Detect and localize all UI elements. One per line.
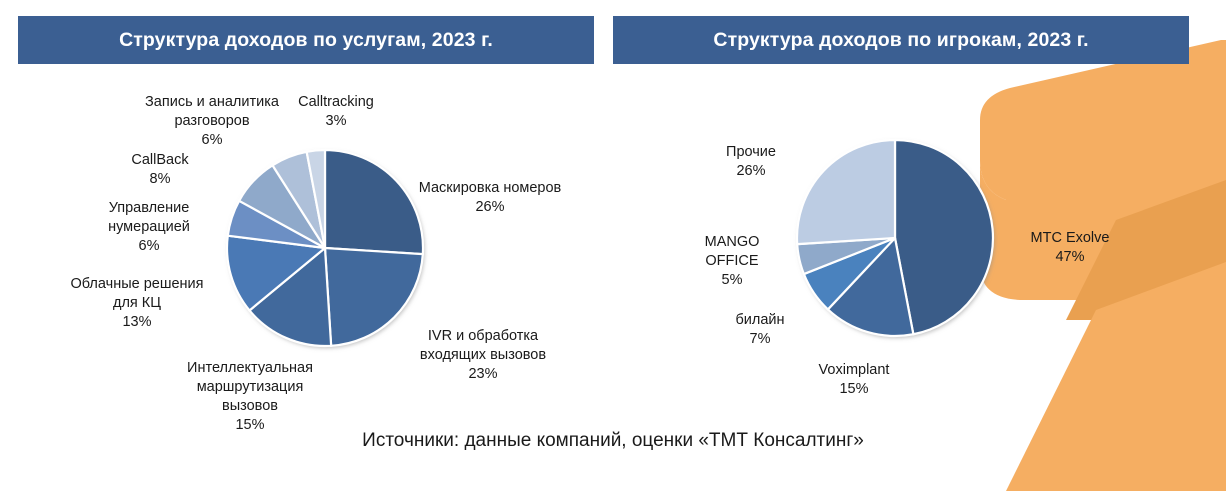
pie-chart-revenue-by-player: Прочие 26% MANGO OFFICE 5% билайн 7% Vox… — [613, 64, 1226, 424]
label-numbering-management-name: Управление нумерацией — [108, 200, 190, 235]
label-ivr-inbound-value: 23% — [388, 365, 578, 384]
label-mtc-exolve-value: 47% — [995, 248, 1145, 267]
label-calltracking-name: Calltracking — [298, 94, 374, 110]
panel-title-right: Структура доходов по игрокам, 2023 г. — [613, 16, 1189, 64]
label-other-players-name: Прочие — [726, 144, 776, 160]
label-numbering-management-value: 6% — [74, 237, 224, 256]
panel-title-right-text: Структура доходов по игрокам, 2023 г. — [713, 29, 1088, 52]
label-voximplant: Voximplant 15% — [779, 342, 929, 418]
panel-title-left: Структура доходов по услугам, 2023 г. — [18, 16, 594, 64]
label-mango-office-name: MANGO OFFICE — [705, 234, 760, 269]
label-number-masking-name: Маскировка номеров — [419, 180, 562, 196]
pie-chart-revenue-by-service: Calltracking 3% Запись и аналитика разго… — [0, 64, 613, 424]
source-note: Источники: данные компаний, оценки «ТМТ … — [0, 430, 1226, 452]
panel-title-left-text: Структура доходов по услугам, 2023 г. — [119, 29, 493, 52]
label-other-players-value: 26% — [691, 162, 811, 181]
label-other-players: Прочие 26% — [691, 124, 811, 200]
label-recording-analytics-name: Запись и аналитика разговоров — [145, 94, 279, 129]
slide-canvas: Структура доходов по услугам, 2023 г. Ст… — [0, 0, 1226, 491]
label-calltracking-value: 3% — [286, 112, 386, 131]
label-calltracking: Calltracking 3% — [286, 74, 386, 150]
label-mango-office-value: 5% — [673, 271, 791, 290]
label-callback-name: CallBack — [131, 152, 188, 168]
label-cloud-contact-center: Облачные решения для КЦ 13% — [42, 256, 232, 351]
label-cloud-contact-center-name: Облачные решения для КЦ — [71, 276, 204, 311]
label-mtc-exolve-name: MTC Exolve — [1031, 230, 1110, 246]
label-number-masking: Маскировка номеров 26% — [395, 160, 585, 236]
label-voximplant-name: Voximplant — [819, 362, 890, 378]
pie-slice — [797, 140, 895, 244]
label-beeline-name: билайн — [735, 312, 784, 328]
pie-right-graphic — [785, 128, 1005, 348]
label-intelligent-routing-name: Интеллектуальная маршрутизация вызовов — [187, 360, 313, 414]
label-ivr-inbound: IVR и обработка входящих вызовов 23% — [388, 308, 578, 403]
label-mtc-exolve: MTC Exolve 47% — [995, 210, 1145, 286]
label-voximplant-value: 15% — [779, 380, 929, 399]
label-ivr-inbound-name: IVR и обработка входящих вызовов — [420, 328, 546, 363]
pie-slice — [895, 140, 993, 334]
label-number-masking-value: 26% — [395, 198, 585, 217]
label-cloud-contact-center-value: 13% — [42, 313, 232, 332]
